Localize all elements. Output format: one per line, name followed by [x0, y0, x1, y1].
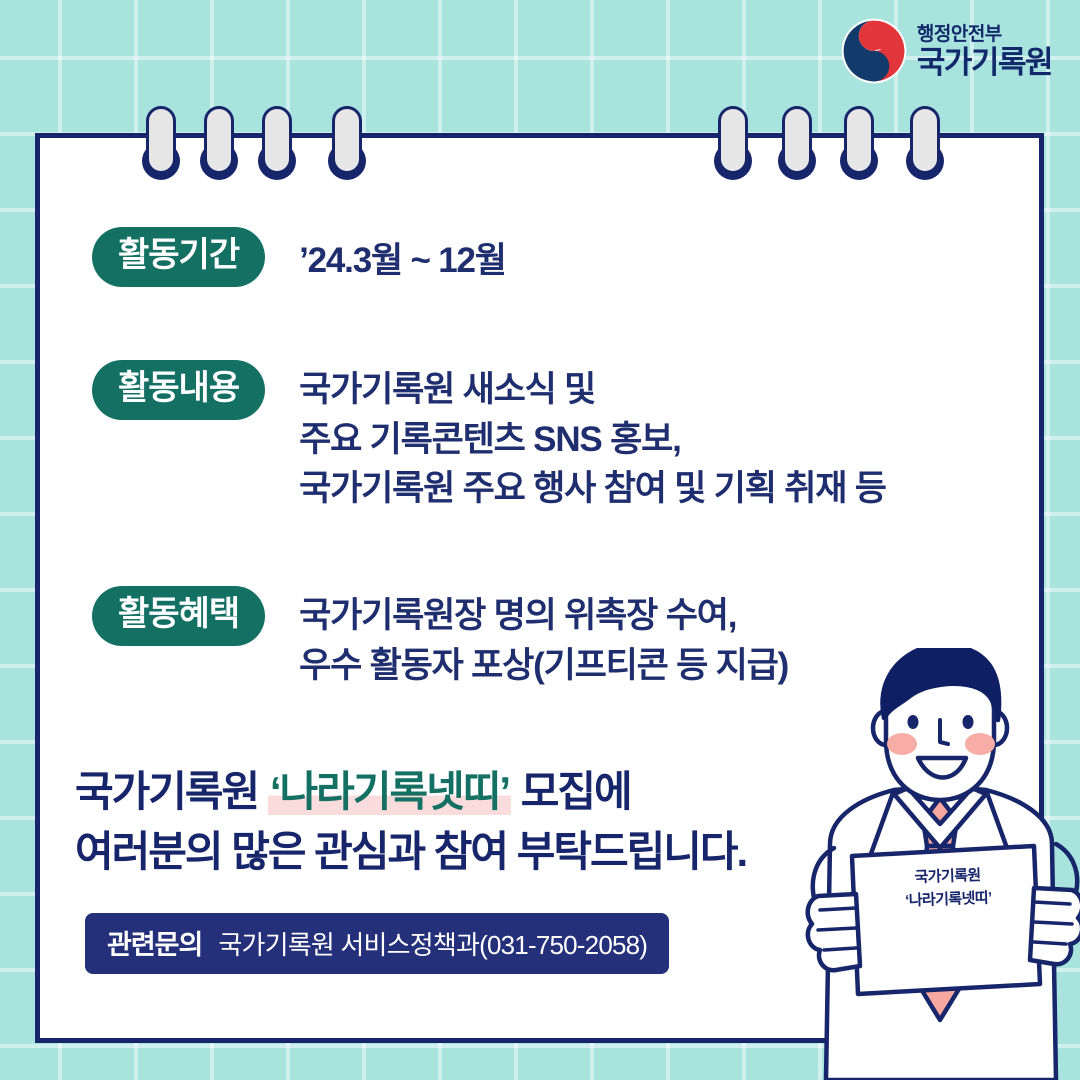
spiral-ring	[714, 106, 752, 180]
contact-value: 국가기록원 서비스정책과(031-750-2058)	[218, 925, 647, 962]
row-value-activities: 국가기록원 새소식 및 주요 기록콘텐츠 SNS 홍보, 국가기록원 주요 행사…	[265, 360, 886, 515]
headline-line-1: 국가기록원 ‘나라기록넷띠’ 모집에	[75, 762, 746, 822]
spiral-ring	[328, 106, 366, 180]
row-line: 국가기록원 주요 행사 참여 및 기획 취재 등	[299, 465, 886, 513]
row-line: 주요 기록콘텐츠 SNS 홍보,	[299, 416, 886, 464]
info-row-benefits: 활동혜택 국가기록원장 명의 위촉장 수여, 우수 활동자 포상(기프티콘 등 …	[92, 586, 788, 691]
row-value-period: ’24.3월 ~ 12월	[265, 227, 506, 287]
spiral-ring	[778, 106, 816, 180]
ring-bar	[910, 106, 940, 174]
headline-pre: 국가기록원	[75, 768, 268, 815]
government-logo: 행정안전부 국가기록원	[841, 18, 1052, 84]
ring-bar	[204, 106, 234, 174]
logo-department: 행정안전부	[917, 25, 1052, 44]
ring-bar	[332, 106, 362, 174]
contact-bar: 관련문의 국가기록원 서비스정책과(031-750-2058)	[85, 913, 669, 974]
spiral-ring	[258, 106, 296, 180]
row-label-period: 활동기간	[92, 227, 265, 287]
row-value-benefits: 국가기록원장 명의 위촉장 수여, 우수 활동자 포상(기프티콘 등 지급)	[265, 586, 788, 691]
poster-canvas: 행정안전부 국가기록원 활동기간	[0, 0, 1080, 1080]
headline-highlight: ‘나라기록넷띠’	[268, 768, 511, 815]
contact-label: 관련문의	[107, 923, 202, 962]
logo-organization: 국가기록원	[917, 47, 1052, 78]
closing-headline: 국가기록원 ‘나라기록넷띠’ 모집에 여러분의 많은 관심과 참여 부탁드립니다…	[75, 762, 746, 881]
ring-bar	[782, 106, 812, 174]
row-line: 국가기록원 새소식 및	[299, 366, 886, 414]
row-label-benefits: 활동혜택	[92, 586, 265, 646]
info-row-period: 활동기간 ’24.3월 ~ 12월	[92, 227, 506, 287]
spiral-ring	[906, 106, 944, 180]
character-illustration: 국가기록원 ‘나라기록넷띠’	[790, 648, 1080, 1080]
ring-bar	[844, 106, 874, 174]
logo-wordmark: 행정안전부 국가기록원	[917, 25, 1052, 78]
headline-post: 모집에	[511, 768, 631, 815]
taegeuk-icon	[841, 18, 907, 84]
row-line: 국가기록원장 명의 위촉장 수여,	[299, 592, 788, 640]
info-row-activities: 활동내용 국가기록원 새소식 및 주요 기록콘텐츠 SNS 홍보, 국가기록원 …	[92, 360, 886, 515]
spiral-ring	[142, 106, 180, 180]
headline-line-2: 여러분의 많은 관심과 참여 부탁드립니다.	[75, 822, 746, 882]
row-label-activities: 활동내용	[92, 360, 265, 420]
row-line: ’24.3월 ~ 12월	[299, 237, 506, 285]
ring-bar	[146, 106, 176, 174]
row-line: 우수 활동자 포상(기프티콘 등 지급)	[299, 642, 788, 690]
ring-bar	[262, 106, 292, 174]
ring-bar	[718, 106, 748, 174]
spiral-ring	[840, 106, 878, 180]
spiral-ring	[200, 106, 238, 180]
